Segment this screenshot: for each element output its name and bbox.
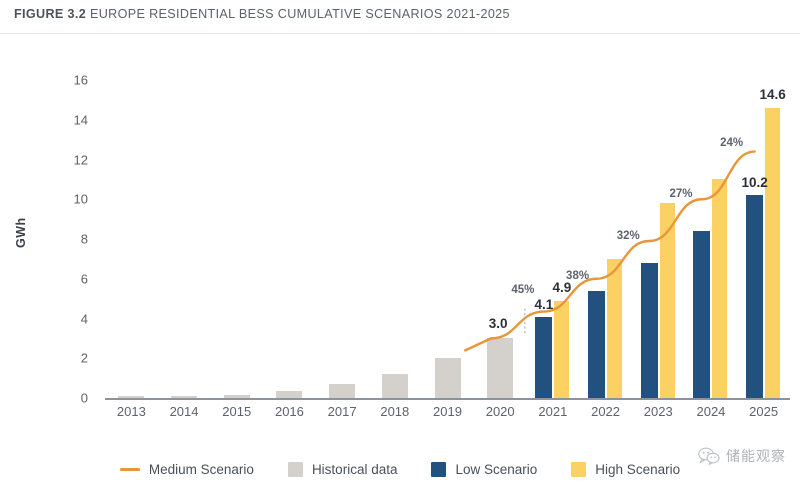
x-tick-2023: 2023	[644, 404, 673, 419]
x-tick-2016: 2016	[275, 404, 304, 419]
data-label-2021-high: 4.9	[552, 280, 571, 295]
legend-label: Medium Scenario	[149, 462, 254, 477]
data-label-2021-low: 4.1	[534, 297, 553, 312]
page-title: FIGURE 3.2 EUROPE RESIDENTIAL BESS CUMUL…	[14, 7, 510, 21]
y-tick-10: 10	[48, 192, 88, 207]
annotation-38pct: 38%	[566, 270, 589, 282]
annotation-27pct: 27%	[669, 188, 692, 200]
annotation-32pct: 32%	[617, 230, 640, 242]
watermark-text: 储能观察	[726, 446, 786, 466]
annotation-24pct: 24%	[720, 137, 743, 149]
y-axis-label: GWh	[14, 217, 28, 248]
x-tick-2020: 2020	[486, 404, 515, 419]
medium-scenario-path	[491, 152, 754, 339]
wechat-logo-icon	[698, 447, 720, 465]
x-tick-2022: 2022	[591, 404, 620, 419]
y-tick-8: 8	[48, 232, 88, 247]
x-tick-2019: 2019	[433, 404, 462, 419]
figure-title-text: EUROPE RESIDENTIAL BESS CUMULATIVE SCENA…	[90, 7, 510, 21]
y-tick-4: 4	[48, 311, 88, 326]
x-tick-2015: 2015	[222, 404, 251, 419]
y-tick-12: 12	[48, 152, 88, 167]
legend-swatch-line-icon	[120, 468, 140, 471]
annotation-45pct: 45%	[511, 284, 534, 296]
legend-item-high-scenario[interactable]: High Scenario	[571, 462, 680, 477]
legend-item-low-scenario[interactable]: Low Scenario	[431, 462, 537, 477]
data-label-2025-high: 14.6	[760, 87, 786, 102]
legend-item-medium-scenario[interactable]: Medium Scenario	[120, 462, 254, 477]
title-divider	[0, 33, 800, 34]
medium-scenario-line	[105, 80, 790, 398]
data-label-2025-low: 10.2	[742, 175, 768, 190]
x-tick-2017: 2017	[328, 404, 357, 419]
x-tick-2021: 2021	[538, 404, 567, 419]
chart-legend: Medium ScenarioHistorical dataLow Scenar…	[0, 462, 800, 477]
chart-plot-area: 0246810121416 20132014201520162017201820…	[105, 80, 790, 398]
medium-scenario-path-stub	[465, 338, 491, 350]
y-tick-16: 16	[48, 73, 88, 88]
x-tick-2014: 2014	[170, 404, 199, 419]
y-tick-6: 6	[48, 271, 88, 286]
figure-number: FIGURE 3.2	[14, 7, 86, 21]
legend-swatch-square-icon	[571, 462, 586, 477]
legend-label: Low Scenario	[455, 462, 537, 477]
x-axis-line	[105, 398, 790, 400]
data-label-2020-historical: 3.0	[489, 316, 508, 331]
x-tick-2018: 2018	[380, 404, 409, 419]
x-tick-2013: 2013	[117, 404, 146, 419]
y-tick-14: 14	[48, 112, 88, 127]
legend-label: Historical data	[312, 462, 398, 477]
legend-swatch-square-icon	[431, 462, 446, 477]
x-tick-2025: 2025	[749, 404, 778, 419]
y-tick-0: 0	[48, 391, 88, 406]
x-tick-2024: 2024	[696, 404, 725, 419]
watermark: 储能观察	[698, 446, 786, 466]
legend-swatch-square-icon	[288, 462, 303, 477]
y-tick-2: 2	[48, 351, 88, 366]
legend-item-historical-data[interactable]: Historical data	[288, 462, 398, 477]
legend-label: High Scenario	[595, 462, 680, 477]
